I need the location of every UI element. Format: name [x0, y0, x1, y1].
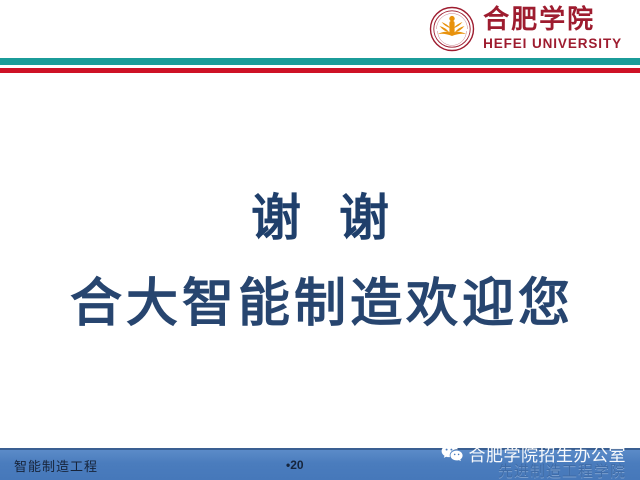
slide-body: 谢谢 合大智能制造欢迎您: [0, 78, 640, 448]
wechat-watermark: 合肥学院招生办公室: [441, 441, 627, 466]
wechat-icon: [441, 444, 463, 463]
hefei-university-seal-icon: [429, 6, 475, 52]
presentation-slide: 合肥学院 HEFEI UNIVERSITY 谢谢 合大智能制造欢迎您 智能制造工…: [0, 0, 640, 480]
thanks-heading: 谢谢: [0, 178, 640, 250]
footer-program-label: 智能制造工程: [14, 456, 98, 475]
university-name-cn: 合肥学院: [483, 7, 595, 34]
slide-header: 合肥学院 HEFEI UNIVERSITY: [0, 0, 640, 58]
brand-text-block: 合肥学院 HEFEI UNIVERSITY: [483, 7, 622, 51]
welcome-heading: 合大智能制造欢迎您: [0, 261, 640, 336]
wechat-account-name: 合肥学院招生办公室: [469, 441, 627, 466]
university-brand: 合肥学院 HEFEI UNIVERSITY: [429, 6, 622, 52]
slide-page-number: •20: [286, 458, 304, 472]
header-stripe-band: [0, 58, 640, 78]
stripe-red: [0, 68, 640, 73]
stripe-teal: [0, 58, 640, 65]
university-name-en: HEFEI UNIVERSITY: [483, 37, 622, 51]
